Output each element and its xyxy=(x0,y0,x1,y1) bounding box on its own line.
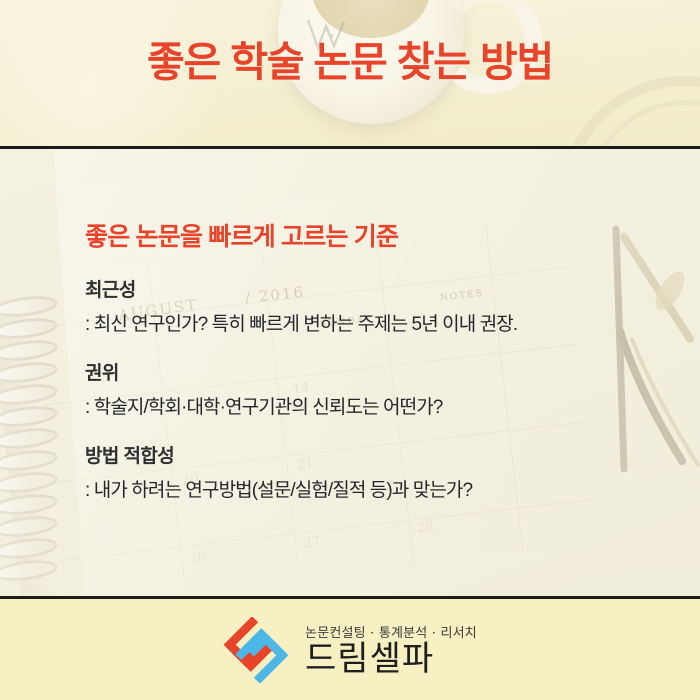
main-content-panel: 6 14 20 21 26 27 28 AUGUST / 2016 SUNDAY… xyxy=(0,149,700,598)
criterion-term: 방법 적합성 xyxy=(85,441,645,468)
criterion-item: 방법 적합성 : 내가 하려는 연구방법(설문/실험/질적 등)과 맞는가? xyxy=(85,441,645,502)
brand-text-block: 논문컨설팅 · 통계분석 · 리서치 드림셀파 xyxy=(305,622,477,678)
brand-tagline: 논문컨설팅 · 통계분석 · 리서치 xyxy=(305,622,477,641)
criteria-content: 좋은 논문을 빠르게 고르는 기준 최근성 : 최신 연구인가? 특히 빠르게 … xyxy=(85,217,645,502)
brand-lockup: 논문컨설팅 · 통계분석 · 리서치 드림셀파 xyxy=(0,599,700,700)
dreamsherpa-logo-icon xyxy=(223,617,289,683)
page-title: 좋은 학술 논문 찾는 방법 xyxy=(0,40,700,85)
criterion-term: 최근성 xyxy=(85,275,645,302)
criterion-description: : 학술지/학회·대학·연구기관의 신뢰도는 어떤가? xyxy=(85,392,645,419)
brand-name: 드림셀파 xyxy=(305,642,477,678)
infographic-card: 좋은 학술 논문 찾는 방법 6 14 20 21 26 27 28 AUGUS… xyxy=(0,0,700,700)
criterion-item: 최근성 : 최신 연구인가? 특히 빠르게 변하는 주제는 5년 이내 권장. xyxy=(85,275,645,336)
criterion-term: 권위 xyxy=(85,358,645,385)
section-subtitle: 좋은 논문을 빠르게 고르는 기준 xyxy=(85,217,645,253)
criterion-item: 권위 : 학술지/학회·대학·연구기관의 신뢰도는 어떤가? xyxy=(85,358,645,419)
footer-bar: 논문컨설팅 · 통계분석 · 리서치 드림셀파 xyxy=(0,599,700,700)
criterion-description: : 내가 하려는 연구방법(설문/실험/질적 등)과 맞는가? xyxy=(85,475,645,502)
header-banner: 좋은 학술 논문 찾는 방법 xyxy=(0,0,700,147)
criterion-description: : 최신 연구인가? 특히 빠르게 변하는 주제는 5년 이내 권장. xyxy=(85,309,645,336)
